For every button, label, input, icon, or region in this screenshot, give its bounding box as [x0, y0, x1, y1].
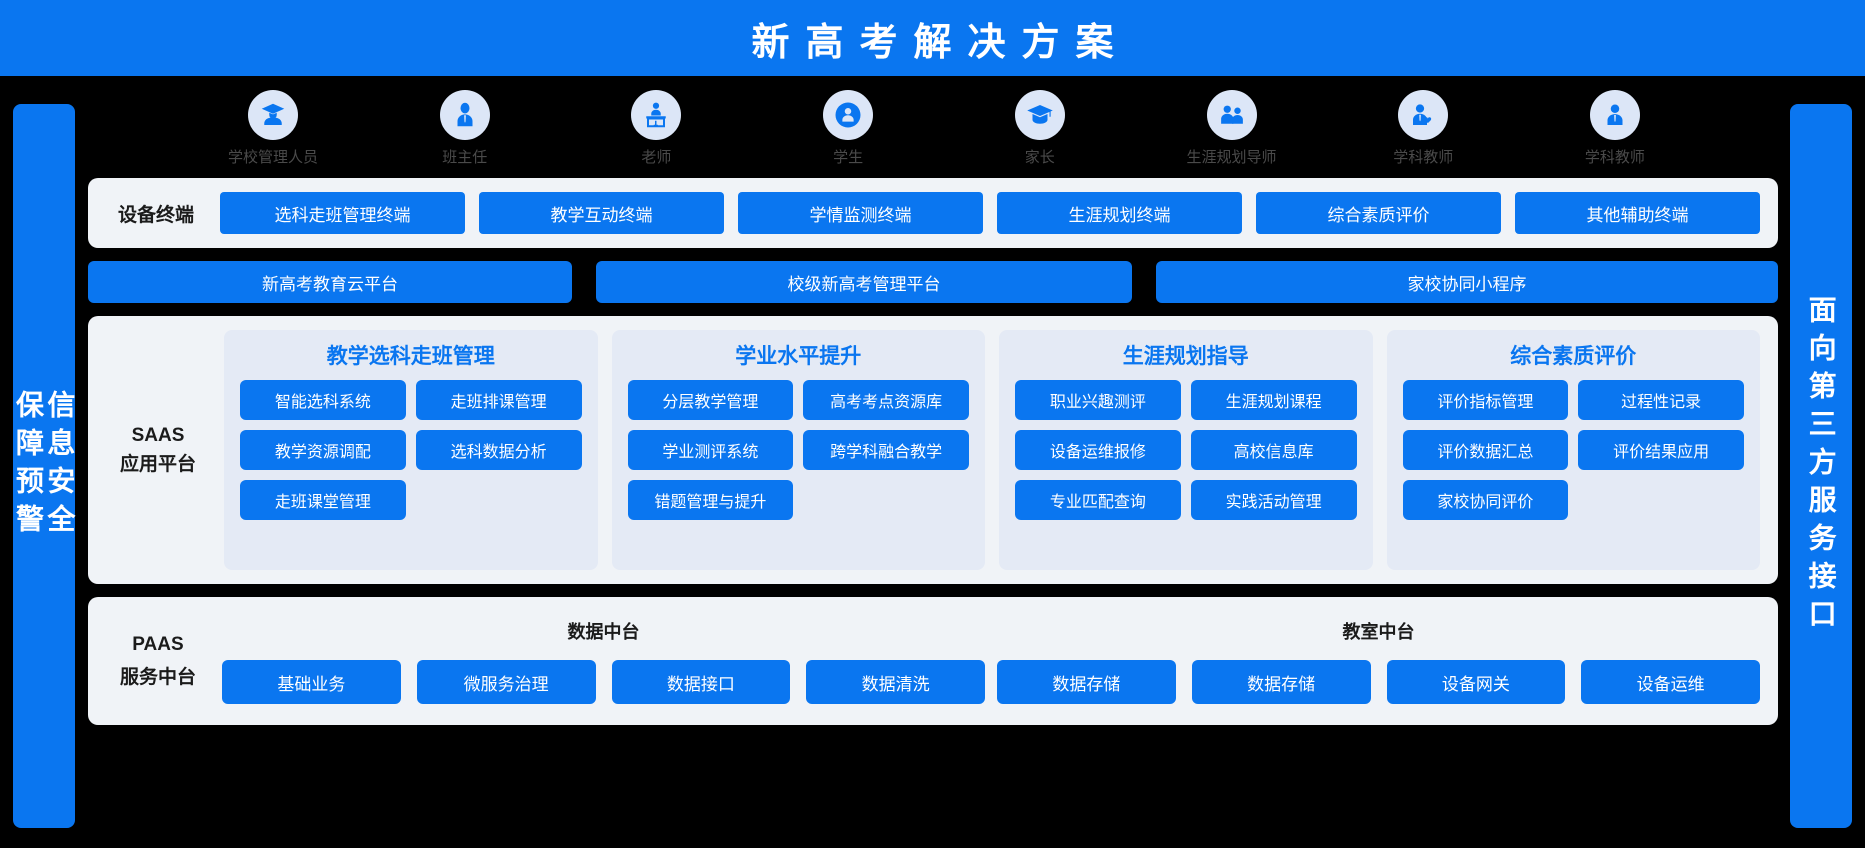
paas-group-items: 数据存储 数据存储 设备网关 设备运维 [997, 660, 1760, 704]
two-people-icon [1207, 90, 1257, 140]
saas-item[interactable]: 评价数据汇总 [1403, 430, 1569, 470]
device-terminal-item[interactable]: 生涯规划终端 [997, 192, 1242, 234]
person-heart-icon [1398, 90, 1448, 140]
left-pillar-information-security: 信息安全 保障预警 [13, 104, 75, 828]
role-student[interactable]: 学生 [773, 90, 923, 167]
saas-label-line1: SAAS [132, 421, 185, 450]
device-terminal-item[interactable]: 综合素质评价 [1256, 192, 1501, 234]
platform-item-cloud[interactable]: 新高考教育云平台 [88, 261, 572, 303]
paas-label: PAAS 服务中台 [106, 628, 210, 695]
saas-item[interactable]: 设备运维报修 [1015, 430, 1181, 470]
saas-item[interactable]: 生涯规划课程 [1191, 380, 1357, 420]
paas-item[interactable]: 数据清洗 [806, 660, 985, 704]
platform-item-miniprogram[interactable]: 家校协同小程序 [1156, 261, 1778, 303]
left-pillar-label: 信息安全 保障预警 [13, 390, 76, 542]
saas-group-course-selection: 教学选科走班管理 智能选科系统 走班排课管理 教学资源调配 选科数据分析 走班课… [224, 330, 598, 570]
device-terminal-item[interactable]: 选科走班管理终端 [220, 192, 465, 234]
saas-item[interactable]: 评价结果应用 [1578, 430, 1744, 470]
role-label: 老师 [641, 146, 671, 167]
role-label: 班主任 [442, 146, 487, 167]
saas-item[interactable]: 走班排课管理 [416, 380, 582, 420]
saas-item[interactable]: 评价指标管理 [1403, 380, 1569, 420]
role-head-teacher[interactable]: 班主任 [390, 90, 540, 167]
device-terminal-label: 设备终端 [106, 200, 206, 227]
student-circle-icon [823, 90, 873, 140]
saas-item[interactable]: 跨学科融合教学 [803, 430, 969, 470]
teacher-podium-icon [631, 90, 681, 140]
saas-item[interactable]: 职业兴趣测评 [1015, 380, 1181, 420]
paas-item[interactable]: 设备运维 [1581, 660, 1760, 704]
role-teacher[interactable]: 老师 [581, 90, 731, 167]
saas-group-title: 生涯规划指导 [1015, 340, 1357, 370]
role-label: 生涯规划导师 [1187, 146, 1277, 167]
saas-group-items: 智能选科系统 走班排课管理 教学资源调配 选科数据分析 走班课堂管理 [240, 380, 582, 520]
person-tie-icon [1590, 90, 1640, 140]
saas-group-items: 分层教学管理 高考考点资源库 学业测评系统 跨学科融合教学 错题管理与提升 [628, 380, 970, 520]
paas-group-title: 数据中台 [222, 618, 985, 644]
platform-row: 新高考教育云平台 校级新高考管理平台 家校协同小程序 [88, 261, 1778, 303]
saas-item[interactable]: 教学资源调配 [240, 430, 406, 470]
saas-group-career: 生涯规划指导 职业兴趣测评 生涯规划课程 设备运维报修 高校信息库 专业匹配查询… [999, 330, 1373, 570]
diagram-canvas: 新高考解决方案 信息安全 保障预警 面向第三方服务接口 学校管理人员 [0, 0, 1865, 848]
graduate-admin-icon [248, 90, 298, 140]
saas-group-academic: 学业水平提升 分层教学管理 高考考点资源库 学业测评系统 跨学科融合教学 错题管… [612, 330, 986, 570]
saas-section: SAAS 应用平台 教学选科走班管理 智能选科系统 走班排课管理 教学资源调配 … [88, 316, 1778, 584]
paas-item[interactable]: 数据存储 [1192, 660, 1371, 704]
saas-group-title: 教学选科走班管理 [240, 340, 582, 370]
paas-item[interactable]: 数据接口 [612, 660, 791, 704]
saas-item[interactable]: 走班课堂管理 [240, 480, 406, 520]
role-school-admin[interactable]: 学校管理人员 [198, 90, 348, 167]
paas-group-data-midend: 数据中台 基础业务 微服务治理 数据接口 数据清洗 [222, 597, 985, 725]
role-career-counselor[interactable]: 学科教师 [1348, 90, 1498, 167]
saas-item[interactable]: 高校信息库 [1191, 430, 1357, 470]
role-parents[interactable]: 生涯规划导师 [1157, 90, 1307, 167]
page-title: 新高考解决方案 [735, 11, 1129, 66]
header-title-bar: 新高考解决方案 [0, 0, 1865, 76]
role-label: 学校管理人员 [228, 146, 318, 167]
role-label: 学科教师 [1393, 146, 1453, 167]
saas-item[interactable]: 专业匹配查询 [1015, 480, 1181, 520]
right-pillar-label: 面向第三方服务接口 [1805, 295, 1836, 637]
role-label: 学科教师 [1585, 146, 1645, 167]
paas-item[interactable]: 设备网关 [1387, 660, 1566, 704]
roles-row: 学校管理人员 班主任 [88, 90, 1778, 176]
saas-group-title: 综合素质评价 [1403, 340, 1745, 370]
saas-item[interactable]: 实践活动管理 [1191, 480, 1357, 520]
main-column: 学校管理人员 班主任 [88, 90, 1778, 838]
saas-item[interactable]: 智能选科系统 [240, 380, 406, 420]
paas-section: PAAS 服务中台 数据中台 基础业务 微服务治理 数据接口 数据清洗 教室中台… [88, 597, 1778, 725]
saas-group-items: 评价指标管理 过程性记录 评价数据汇总 评价结果应用 家校协同评价 [1403, 380, 1745, 520]
person-badge-icon [440, 90, 490, 140]
saas-label-line2: 应用平台 [120, 450, 196, 479]
paas-group-title: 教室中台 [997, 618, 1760, 644]
saas-item[interactable]: 错题管理与提升 [628, 480, 794, 520]
saas-label: SAAS 应用平台 [106, 330, 210, 570]
role-label: 学生 [833, 146, 863, 167]
role-label: 家长 [1025, 146, 1055, 167]
paas-label-line1: PAAS [132, 628, 183, 661]
paas-label-line2: 服务中台 [120, 661, 196, 694]
platform-item-school[interactable]: 校级新高考管理平台 [596, 261, 1132, 303]
paas-item[interactable]: 基础业务 [222, 660, 401, 704]
saas-item[interactable]: 分层教学管理 [628, 380, 794, 420]
saas-item[interactable]: 学业测评系统 [628, 430, 794, 470]
paas-item[interactable]: 数据存储 [997, 660, 1176, 704]
role-subject-teacher[interactable]: 学科教师 [1540, 90, 1690, 167]
saas-item[interactable]: 高考考点资源库 [803, 380, 969, 420]
device-terminal-item[interactable]: 其他辅助终端 [1515, 192, 1760, 234]
saas-item[interactable]: 过程性记录 [1578, 380, 1744, 420]
right-pillar-third-party-interface: 面向第三方服务接口 [1790, 104, 1852, 828]
saas-item[interactable]: 选科数据分析 [416, 430, 582, 470]
saas-group-title: 学业水平提升 [628, 340, 970, 370]
paas-item[interactable]: 微服务治理 [417, 660, 596, 704]
saas-group-items: 职业兴趣测评 生涯规划课程 设备运维报修 高校信息库 专业匹配查询 实践活动管理 [1015, 380, 1357, 520]
graduation-cap-icon [1015, 90, 1065, 140]
role-parent-cap[interactable]: 家长 [965, 90, 1115, 167]
device-terminal-item[interactable]: 学情监测终端 [738, 192, 983, 234]
device-terminal-row: 设备终端 选科走班管理终端 教学互动终端 学情监测终端 生涯规划终端 综合素质评… [88, 178, 1778, 248]
saas-group-comprehensive: 综合素质评价 评价指标管理 过程性记录 评价数据汇总 评价结果应用 家校协同评价 [1387, 330, 1761, 570]
device-terminal-item[interactable]: 教学互动终端 [479, 192, 724, 234]
saas-item[interactable]: 家校协同评价 [1403, 480, 1569, 520]
paas-group-items: 基础业务 微服务治理 数据接口 数据清洗 [222, 660, 985, 704]
paas-group-classroom-midend: 教室中台 数据存储 数据存储 设备网关 设备运维 [997, 597, 1760, 725]
